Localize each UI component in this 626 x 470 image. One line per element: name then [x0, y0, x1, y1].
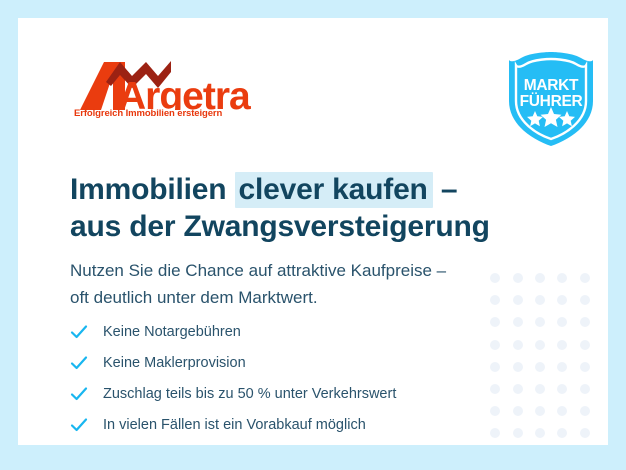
decorative-dot [557, 273, 567, 283]
check-icon [70, 354, 88, 372]
decorative-dot [557, 295, 567, 305]
list-item: In vielen Fällen ist ein Vorabkauf mögli… [70, 409, 540, 440]
check-icon [70, 416, 88, 434]
decorative-dot [557, 428, 567, 438]
subheadline-line1: Nutzen Sie die Chance auf attraktive Kau… [70, 261, 446, 280]
decorative-dot [580, 362, 590, 372]
list-item: Keine Notargebühren [70, 316, 540, 347]
argetra-logo: Argetra Erfolgreich Immobilien ersteiger… [72, 58, 272, 126]
subheadline: Nutzen Sie die Chance auf attraktive Kau… [70, 257, 540, 311]
page-title: Immobilien clever kaufen –aus der Zwangs… [70, 171, 540, 245]
decorative-dot [557, 340, 567, 350]
decorative-dot [580, 317, 590, 327]
decorative-dot [557, 406, 567, 416]
badge-line1: MARKT [524, 77, 579, 94]
list-item-label: Keine Maklerprovision [103, 354, 246, 372]
argetra-a-roof-icon: Argetra [72, 58, 272, 110]
decorative-dot [557, 384, 567, 394]
decorative-dot [557, 362, 567, 372]
decorative-dot [557, 317, 567, 327]
svg-text:Argetra: Argetra [118, 75, 251, 110]
decorative-dot [580, 340, 590, 350]
headline-highlight: clever kaufen [235, 172, 433, 208]
decorative-dot [580, 384, 590, 394]
markt-fuehrer-badge: MARKT FÜHRER [505, 51, 597, 147]
list-item: Zuschlag teils bis zu 50 % unter Verkehr… [70, 378, 540, 409]
check-icon [70, 323, 88, 341]
headline-line1-before: Immobilien [70, 173, 235, 206]
decorative-dot [580, 428, 590, 438]
list-item-label: Zuschlag teils bis zu 50 % unter Verkehr… [103, 385, 396, 403]
list-item-label: Keine Notargebühren [103, 323, 241, 341]
promo-banner: Argetra Erfolgreich Immobilien ersteiger… [0, 0, 626, 470]
decorative-dot [580, 295, 590, 305]
banner-card: Argetra Erfolgreich Immobilien ersteiger… [18, 18, 608, 445]
list-item: Keine Maklerprovision [70, 347, 540, 378]
benefits-list: Keine Notargebühren Keine Maklerprovisio… [70, 316, 540, 440]
decorative-dot [580, 406, 590, 416]
logo-tagline: Erfolgreich Immobilien ersteigern [74, 108, 222, 119]
list-item-label: In vielen Fällen ist ein Vorabkauf mögli… [103, 416, 366, 434]
decorative-dot [580, 273, 590, 283]
subheadline-line2: oft deutlich unter dem Marktwert. [70, 288, 318, 307]
check-icon [70, 385, 88, 403]
headline-line1-after: – [433, 173, 458, 206]
headline-line2: aus der Zwangsversteigerung [70, 210, 490, 243]
